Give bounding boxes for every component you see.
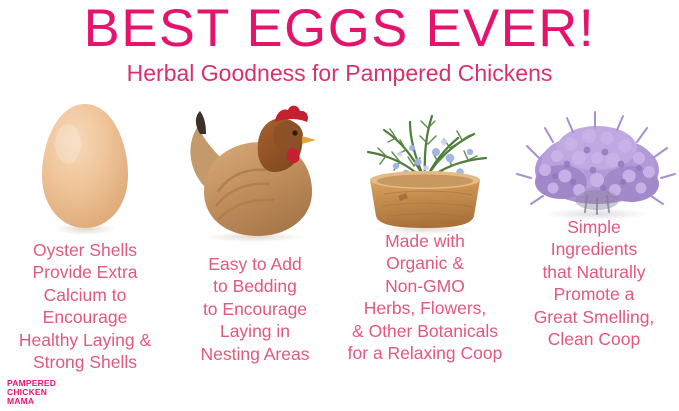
- caption-line: Ingredients: [505, 238, 679, 260]
- caption-line: Promote a: [505, 283, 679, 305]
- caption-line: Herbs, Flowers,: [336, 297, 514, 319]
- caption-line: Healthy Laying &: [0, 329, 174, 351]
- caption-line: Non-GMO: [336, 275, 514, 297]
- feature-caption: Made with Organic & Non-GMO Herbs, Flowe…: [336, 230, 514, 364]
- caption-line: Simple: [505, 216, 679, 238]
- caption-line: Organic &: [336, 252, 514, 274]
- herb-bowl-photo: [340, 96, 510, 242]
- caption-line: Clean Coop: [505, 328, 679, 350]
- feature-caption: Easy to Add to Bedding to Encourage Layi…: [166, 253, 344, 365]
- page-subtitle: Herbal Goodness for Pampered Chickens: [0, 60, 679, 87]
- feature-caption: Simple Ingredients that Naturally Promot…: [505, 216, 679, 350]
- brown-egg-photo: [0, 96, 170, 242]
- caption-line: Provide Extra: [0, 261, 174, 283]
- caption-line: Oyster Shells: [0, 239, 174, 261]
- feature-caption: Oyster Shells Provide Extra Calcium to E…: [0, 239, 174, 373]
- caption-line: to Bedding: [166, 275, 344, 297]
- brown-hen-photo: [170, 96, 340, 242]
- feature-column-bedding: Easy to Add to Bedding to Encourage Layi…: [170, 96, 340, 386]
- logo-line-3: MAMA: [7, 397, 56, 406]
- caption-line: Nesting Areas: [166, 343, 344, 365]
- caption-line: Easy to Add: [166, 253, 344, 275]
- caption-line: for a Relaxing Coop: [336, 342, 514, 364]
- caption-line: to Encourage: [166, 298, 344, 320]
- caption-line: Strong Shells: [0, 351, 174, 373]
- caption-line: Calcium to: [0, 284, 174, 306]
- caption-line: Encourage: [0, 306, 174, 328]
- caption-line: & Other Botanicals: [336, 320, 514, 342]
- brand-logo: PAMPERED CHICKEN MAMA: [7, 379, 56, 407]
- feature-column-clean-coop: Simple Ingredients that Naturally Promot…: [509, 96, 679, 386]
- caption-line: Laying in: [166, 320, 344, 342]
- caption-line: that Naturally: [505, 261, 679, 283]
- feature-column-oyster-shells: Oyster Shells Provide Extra Calcium to E…: [0, 96, 170, 386]
- page-title: BEST EGGS EVER!: [0, 0, 679, 58]
- caption-line: Made with: [336, 230, 514, 252]
- caption-line: Great Smelling,: [505, 306, 679, 328]
- feature-column-botanicals: Made with Organic & Non-GMO Herbs, Flowe…: [340, 96, 510, 386]
